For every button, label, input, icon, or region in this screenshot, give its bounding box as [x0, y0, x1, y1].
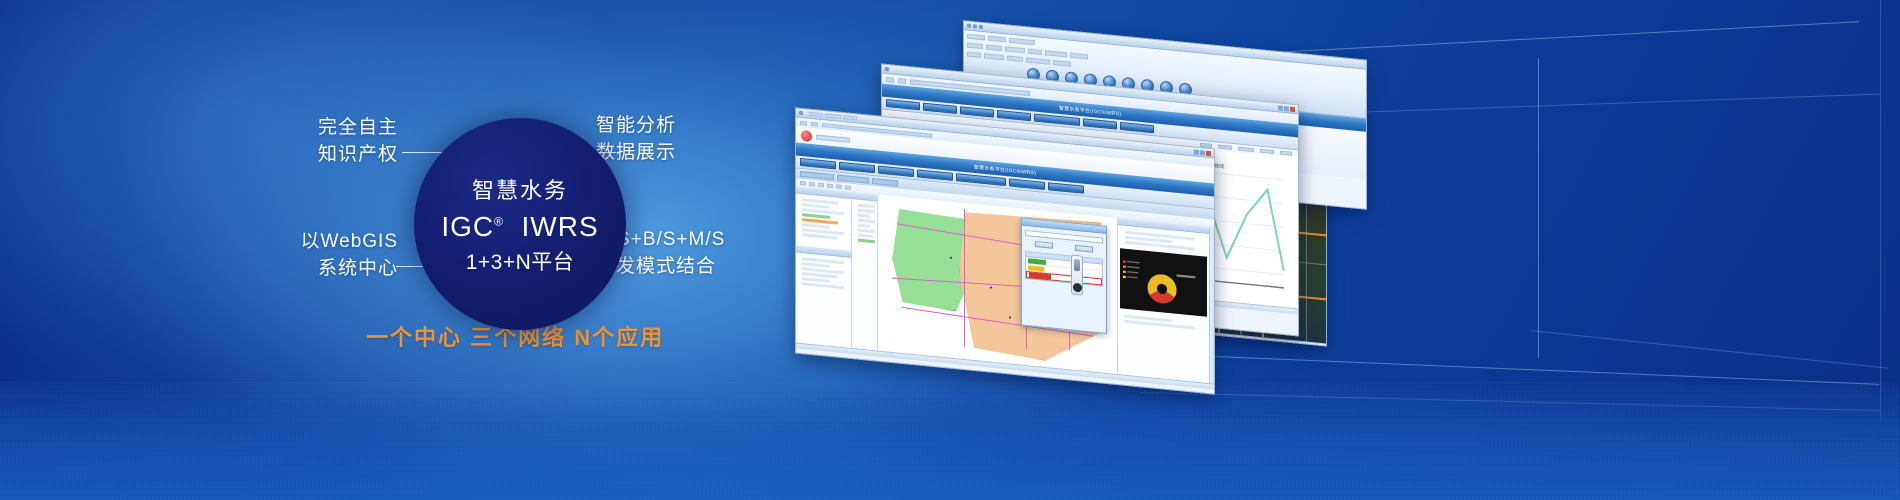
floor-plane	[0, 382, 1900, 500]
pan-icon[interactable]	[800, 181, 806, 186]
window-controls[interactable]	[1194, 149, 1211, 156]
pipeline	[964, 209, 965, 346]
tool-item[interactable]	[858, 224, 870, 228]
perspective-vertical-2	[1880, 0, 1881, 420]
nav-tab-baojingguanli[interactable]	[1083, 118, 1117, 129]
hub-product-suffix: IWRS	[522, 211, 599, 242]
measure-icon[interactable]	[836, 184, 842, 189]
zoom-slider-handle[interactable]	[1074, 258, 1080, 271]
link-fullscreen[interactable]	[1238, 147, 1254, 153]
ribbon-command[interactable]	[1045, 50, 1067, 57]
menu-file[interactable]	[809, 112, 823, 117]
link-exit[interactable]	[1280, 151, 1292, 156]
tool-palette[interactable]	[852, 192, 878, 351]
pie-chart-panel	[1120, 248, 1207, 317]
ribbon-tab[interactable]	[967, 34, 985, 41]
dialog-table	[1025, 251, 1103, 287]
nav-tab-diaoudufenxi[interactable]	[997, 110, 1031, 121]
menu-view[interactable]	[843, 115, 857, 120]
ribbon-command[interactable]	[967, 43, 983, 50]
nav-tab-xitongguanli[interactable]	[1120, 122, 1154, 133]
cancel-button[interactable]	[1075, 245, 1093, 253]
sub-tab-liuliangjiance[interactable]	[872, 178, 898, 187]
nav-tab-yunxingjiance[interactable]	[878, 166, 914, 178]
ribbon-command[interactable]	[967, 52, 981, 58]
menu-edit[interactable]	[825, 113, 841, 119]
gis-map-canvas[interactable]	[878, 195, 1117, 374]
tool-item[interactable]	[858, 204, 875, 209]
feature-line2: 系统中心	[256, 255, 398, 282]
identify-icon[interactable]	[845, 185, 851, 190]
ribbon-command[interactable]	[1070, 53, 1088, 60]
perspective-vertical-1	[1538, 58, 1539, 358]
nav-tab-guanwangchaxun[interactable]	[800, 158, 836, 170]
ribbon-command[interactable]	[1005, 46, 1025, 53]
company-logo-icon	[801, 129, 812, 141]
feature-line2: 知识产权	[268, 141, 398, 168]
status-bar-red	[1029, 273, 1051, 280]
save-icon[interactable]	[973, 24, 977, 28]
vertical-scrollbar[interactable]	[1209, 227, 1214, 383]
water-balance-pie	[1120, 248, 1207, 317]
ribbon-tab[interactable]	[1009, 38, 1035, 46]
status-bar-green	[1028, 258, 1046, 265]
nav-tab-yunxingjiance[interactable]	[960, 106, 994, 117]
layer-tree-panel[interactable]	[796, 187, 852, 348]
close-icon[interactable]	[1206, 150, 1211, 155]
banner-root: 完全自主 知识产权 以WebGIS 系统中心 智能分析 数据展示 C/S+B/S…	[0, 0, 1900, 500]
nav-tab-shujuguanli[interactable]	[839, 162, 875, 174]
window-icon	[967, 24, 971, 28]
tool-item[interactable]	[858, 234, 873, 238]
nav-tab-baojingguanli[interactable]	[1009, 178, 1045, 190]
ribbon-command[interactable]	[1028, 49, 1042, 55]
ribbon-tab[interactable]	[988, 36, 1006, 43]
hub-title: 智慧水务	[472, 173, 568, 205]
link-refresh[interactable]	[1218, 145, 1232, 150]
tool-item[interactable]	[858, 209, 875, 214]
undo-icon[interactable]	[979, 25, 983, 29]
feature-label-top-right: 智能分析 数据展示	[596, 112, 676, 166]
perspective-line-5	[1530, 330, 1888, 369]
zoom-out-icon[interactable]	[818, 183, 824, 188]
hub-product-prefix: IGC	[441, 211, 494, 242]
hub-product: IGC® IWRS	[441, 211, 598, 243]
zoom-in-icon[interactable]	[809, 182, 815, 187]
brand-text	[816, 134, 850, 142]
attribute-row	[802, 282, 844, 289]
registered-mark-icon: ®	[494, 214, 504, 228]
nav-tab-diaoudufenxi[interactable]	[917, 169, 953, 181]
tool-item-active[interactable]	[858, 239, 875, 244]
back-icon[interactable]	[800, 120, 807, 125]
minimize-icon[interactable]	[1278, 105, 1283, 110]
query-button[interactable]	[1035, 241, 1053, 249]
tool-item[interactable]	[858, 229, 875, 234]
ribbon-command[interactable]	[986, 44, 1002, 51]
select-icon[interactable]	[827, 184, 833, 189]
tool-item[interactable]	[858, 214, 870, 218]
maximize-icon[interactable]	[1200, 150, 1205, 155]
nav-tab-guanwangchaxun[interactable]	[886, 99, 920, 110]
ribbon-command[interactable]	[1007, 56, 1023, 63]
water-balance-panel[interactable]	[1117, 218, 1209, 383]
map-navigation-control[interactable]	[1071, 254, 1083, 295]
window-front[interactable]: 智慧水务平台(IGC®IWRS)	[795, 107, 1215, 394]
ribbon-command[interactable]	[1053, 60, 1071, 67]
pan-compass-icon[interactable]	[1073, 282, 1082, 292]
link-help[interactable]	[1260, 149, 1274, 154]
nav-tab-shujuguanli[interactable]	[923, 103, 957, 114]
forward-icon[interactable]	[811, 121, 818, 126]
window-icon	[799, 111, 803, 115]
water-pressure-dialog[interactable]	[1021, 218, 1107, 334]
forward-icon[interactable]	[898, 78, 906, 84]
feature-label-bottom-left: 以WebGIS 系统中心	[256, 228, 398, 282]
feature-line1: 完全自主	[268, 114, 398, 141]
nav-tab-xitongguanli[interactable]	[1048, 182, 1084, 194]
ribbon-command[interactable]	[1026, 57, 1050, 64]
feature-label-top-left: 完全自主 知识产权	[268, 114, 398, 168]
window-icon	[885, 67, 889, 71]
window-controls[interactable]	[1278, 105, 1295, 112]
map-node[interactable]	[950, 256, 952, 258]
tool-item[interactable]	[858, 219, 875, 224]
hub-circle: 智慧水务 IGC® IWRS 1+3+N平台	[414, 118, 626, 330]
back-icon[interactable]	[886, 76, 894, 82]
close-icon[interactable]	[1290, 106, 1295, 111]
status-bar-yellow	[1028, 265, 1044, 272]
feature-line1: 以WebGIS	[256, 228, 398, 255]
feature-line1: 智能分析	[596, 112, 676, 139]
hub-platform: 1+3+N平台	[466, 246, 575, 276]
screenshot-stack: 智慧水务平台(IGC®IWRS) 智慧水务平台(IGC®IWRS)	[795, 40, 1535, 380]
ribbon-command[interactable]	[984, 53, 1004, 60]
maximize-icon[interactable]	[1284, 106, 1289, 111]
minimize-icon[interactable]	[1194, 149, 1199, 154]
